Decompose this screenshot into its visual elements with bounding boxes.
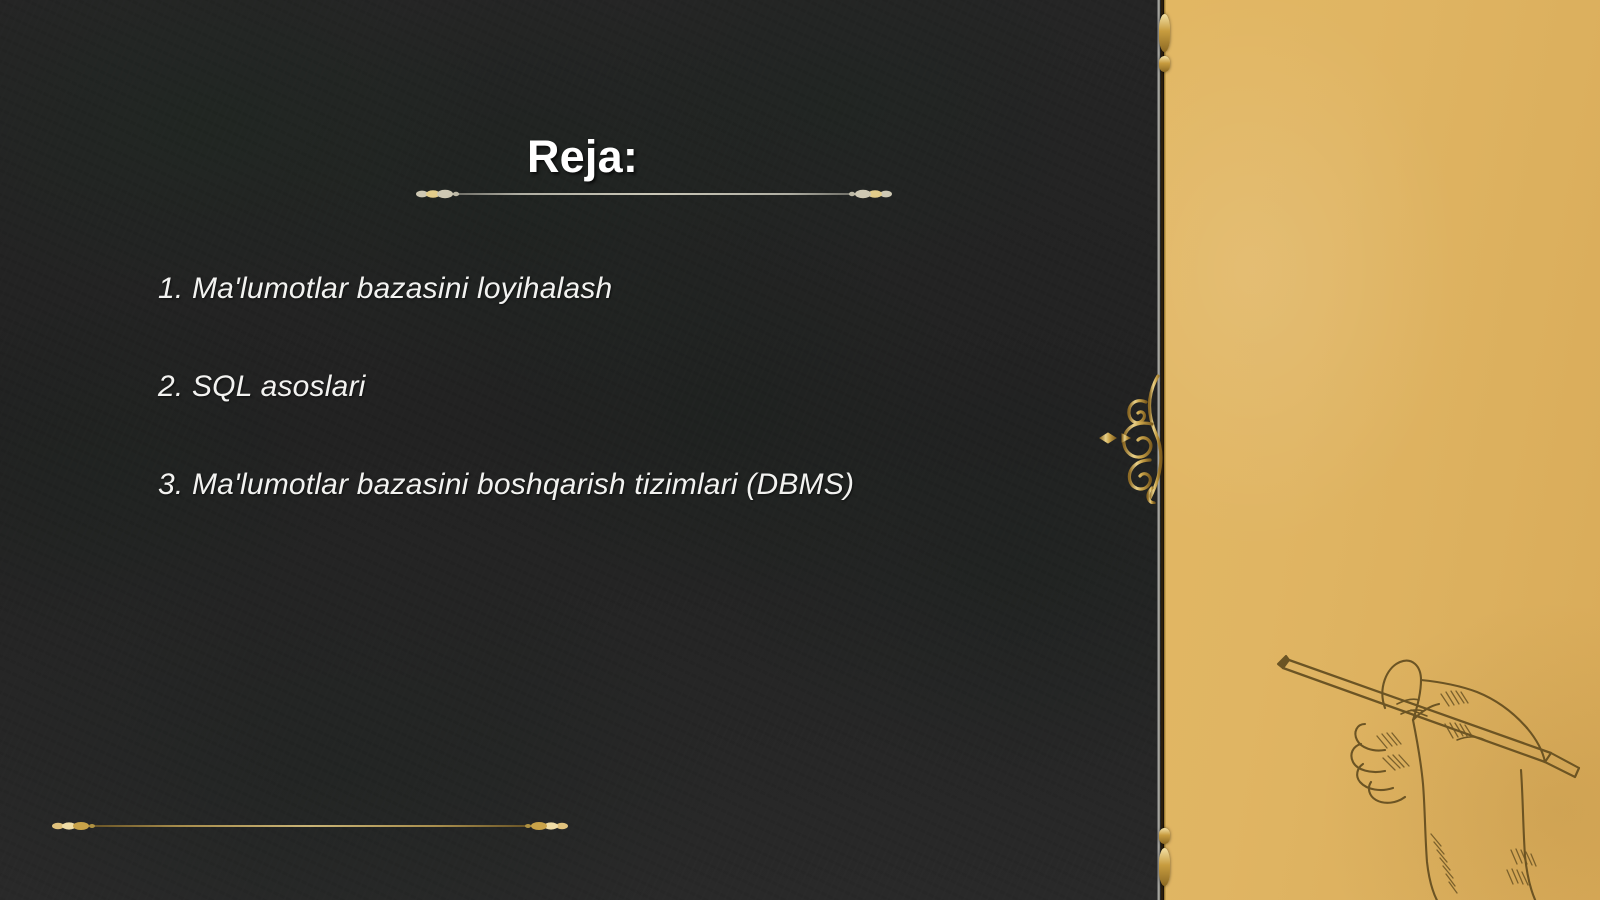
hand-holding-pen-illustration — [1245, 612, 1600, 900]
list-item: 1. Ma'lumotlar bazasini loyihalash — [158, 272, 1098, 370]
divider-rule — [80, 825, 540, 827]
slide-canvas: Reja: 1. Ma'lumotlar bazasini loyihalash… — [0, 0, 1600, 900]
gold-side-panel — [1165, 0, 1600, 900]
title-divider — [416, 185, 892, 203]
divider-ornament-right — [846, 187, 892, 201]
list-item: 2. SQL asoslari — [158, 370, 1098, 468]
bottom-divider-ornament-left — [52, 819, 98, 833]
list-item: 3. Ma'lumotlar bazasini boshqarish tizim… — [158, 468, 1098, 566]
border-bead-bottom-small — [1159, 828, 1170, 844]
border-bead-bottom — [1159, 848, 1170, 886]
gold-filigree-flourish — [1096, 372, 1176, 504]
border-bead-top-small — [1159, 56, 1170, 72]
page-title: Reja: — [0, 131, 1165, 183]
border-bead-top — [1159, 14, 1170, 52]
bottom-divider — [52, 817, 568, 835]
bottom-divider-ornament-right — [522, 819, 568, 833]
agenda-list: 1. Ma'lumotlar bazasini loyihalash 2. SQ… — [158, 272, 1098, 566]
divider-rule — [444, 193, 864, 195]
divider-ornament-left — [416, 187, 462, 201]
